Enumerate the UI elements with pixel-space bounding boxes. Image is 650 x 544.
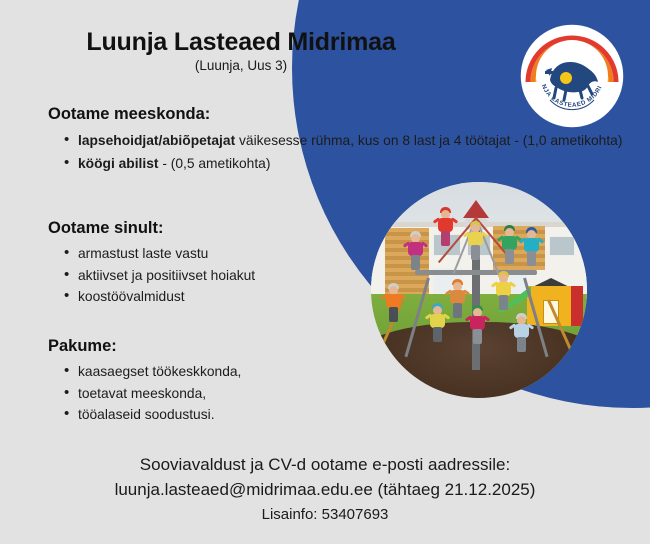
list-item-text: - (0,5 ametikohta) [159, 156, 271, 171]
job-advert-poster: LUUNJA LASTEAED MIDRIMAA Luunja Lasteaed… [0, 0, 650, 544]
list-item-text: koostöövalmidust [78, 289, 185, 304]
list-item-text: armastust laste vastu [78, 246, 208, 261]
contact-footer: Sooviavaldust ja CV-d ootame e-posti aad… [0, 452, 650, 527]
section-list: kaasaegset töökeskkonda, toetavat meesko… [48, 362, 241, 425]
list-item-text: kaasaegset töökeskkonda, [78, 364, 241, 379]
page-title: Luunja Lasteaed Midrimaa [0, 28, 482, 57]
list-item: koostöövalmidust [78, 287, 255, 307]
section-pakume: Pakume: kaasaegset töökeskkonda, toetava… [48, 337, 241, 427]
list-item-text: toetavat meeskonda, [78, 386, 206, 401]
list-item-bold: köögi abilist [78, 156, 159, 171]
footer-line-1: Sooviavaldust ja CV-d ootame e-posti aad… [0, 452, 650, 477]
list-item: aktiivset ja positiivset hoiakut [78, 266, 255, 286]
logo-svg: LUUNJA LASTEAED MIDRIMAA [520, 24, 624, 128]
list-item: armastust laste vastu [78, 244, 255, 264]
list-item-text: aktiivset ja positiivset hoiakut [78, 268, 255, 283]
list-item: lapsehoidjat/abiõpetajat väikesesse rühm… [78, 130, 622, 151]
list-item-bold: lapsehoidjat/abiõpetajat [78, 133, 235, 148]
luunja-lasteaed-midrimaa-logo: LUUNJA LASTEAED MIDRIMAA [520, 24, 624, 128]
list-item: tööalaseid soodustusi. [78, 405, 241, 425]
section-ootame-sinult: Ootame sinult: armastust laste vastu akt… [48, 219, 255, 309]
saddle [560, 72, 572, 84]
list-item: köögi abilist - (0,5 ametikohta) [78, 153, 622, 174]
list-item: toetavat meeskonda, [78, 384, 241, 404]
section-list: lapsehoidjat/abiõpetajat väikesesse rühm… [48, 130, 622, 174]
footer-email-line: luunja.lasteaed@midrimaa.edu.ee (tähtaeg… [0, 477, 650, 502]
page-subtitle: (Luunja, Uus 3) [0, 58, 482, 73]
section-heading: Ootame sinult: [48, 219, 255, 238]
section-list: armastust laste vastu aktiivset ja posit… [48, 244, 255, 307]
section-heading: Pakume: [48, 337, 241, 356]
list-item-text: väikesesse rühma, kus on 8 last ja 4 töö… [235, 133, 622, 148]
list-item: kaasaegset töökeskkonda, [78, 362, 241, 382]
footer-phone-line: Lisainfo: 53407693 [0, 502, 650, 527]
list-item-text: tööalaseid soodustusi. [78, 407, 215, 422]
